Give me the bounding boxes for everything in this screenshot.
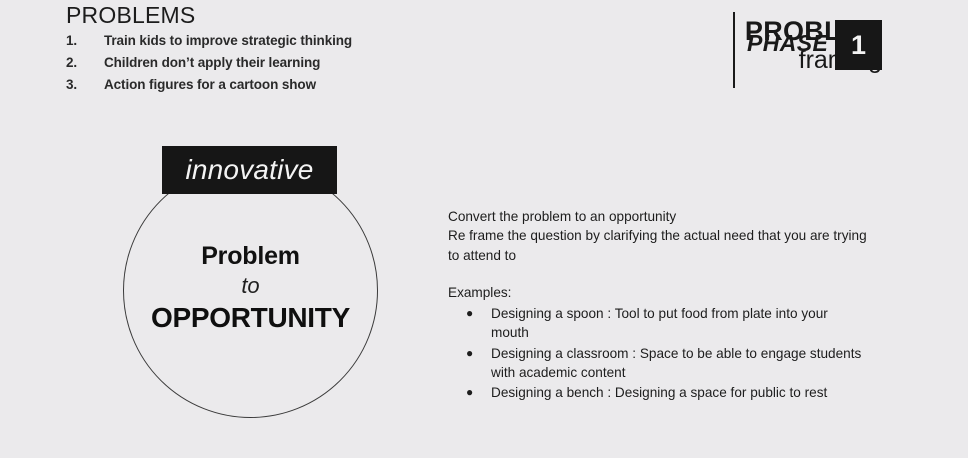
example-text: Designing a bench : Designing a space fo… bbox=[491, 383, 868, 402]
problem-number: 3. bbox=[66, 74, 104, 96]
problem-text: Train kids to improve strategic thinking bbox=[104, 30, 466, 52]
problem-text: Action figures for a cartoon show bbox=[104, 74, 466, 96]
problem-to-opportunity-circle: Problem to OPPORTUNITY bbox=[123, 163, 378, 418]
innovative-badge: innovative bbox=[162, 146, 337, 194]
list-item: ● Designing a spoon : Tool to put food f… bbox=[448, 304, 868, 343]
phase-badge: 1 bbox=[835, 20, 882, 70]
list-item: 2. Children don’t apply their learning bbox=[66, 52, 466, 74]
circle-line-to: to bbox=[123, 272, 378, 301]
list-item: ● Designing a bench : Designing a space … bbox=[448, 383, 868, 402]
list-item: 3. Action figures for a cartoon show bbox=[66, 74, 466, 96]
innovative-badge-label: innovative bbox=[185, 156, 313, 184]
circle-line-opportunity: OPPORTUNITY bbox=[123, 301, 378, 335]
phase-number: 1 bbox=[851, 32, 866, 59]
problems-block: PROBLEMS 1. Train kids to improve strate… bbox=[66, 2, 466, 96]
list-item: ● Designing a classroom : Space to be ab… bbox=[448, 344, 868, 383]
circle-text-group: Problem to OPPORTUNITY bbox=[123, 241, 378, 334]
examples-heading: Examples: bbox=[448, 283, 868, 302]
bullet-icon: ● bbox=[448, 304, 491, 322]
example-text: Designing a classroom : Space to be able… bbox=[491, 344, 868, 383]
list-item: 1. Train kids to improve strategic think… bbox=[66, 30, 466, 52]
problems-heading: PROBLEMS bbox=[66, 2, 466, 28]
problem-number: 1. bbox=[66, 30, 104, 52]
circle-line-problem: Problem bbox=[123, 241, 378, 272]
description-line-2: Re frame the question by clarifying the … bbox=[448, 226, 868, 265]
bullet-icon: ● bbox=[448, 383, 491, 401]
example-text: Designing a spoon : Tool to put food fro… bbox=[491, 304, 868, 343]
description-block: Convert the problem to an opportunity Re… bbox=[448, 207, 868, 403]
header-divider bbox=[733, 12, 735, 88]
examples-list: ● Designing a spoon : Tool to put food f… bbox=[448, 304, 868, 402]
description-line-1: Convert the problem to an opportunity bbox=[448, 207, 868, 226]
problem-number: 2. bbox=[66, 52, 104, 74]
bullet-icon: ● bbox=[448, 344, 491, 362]
problems-list: 1. Train kids to improve strategic think… bbox=[66, 30, 466, 96]
slide-canvas: PROBLEMS 1. Train kids to improve strate… bbox=[0, 0, 968, 458]
phase-label: PHASE bbox=[747, 30, 828, 57]
problem-text: Children don’t apply their learning bbox=[104, 52, 466, 74]
